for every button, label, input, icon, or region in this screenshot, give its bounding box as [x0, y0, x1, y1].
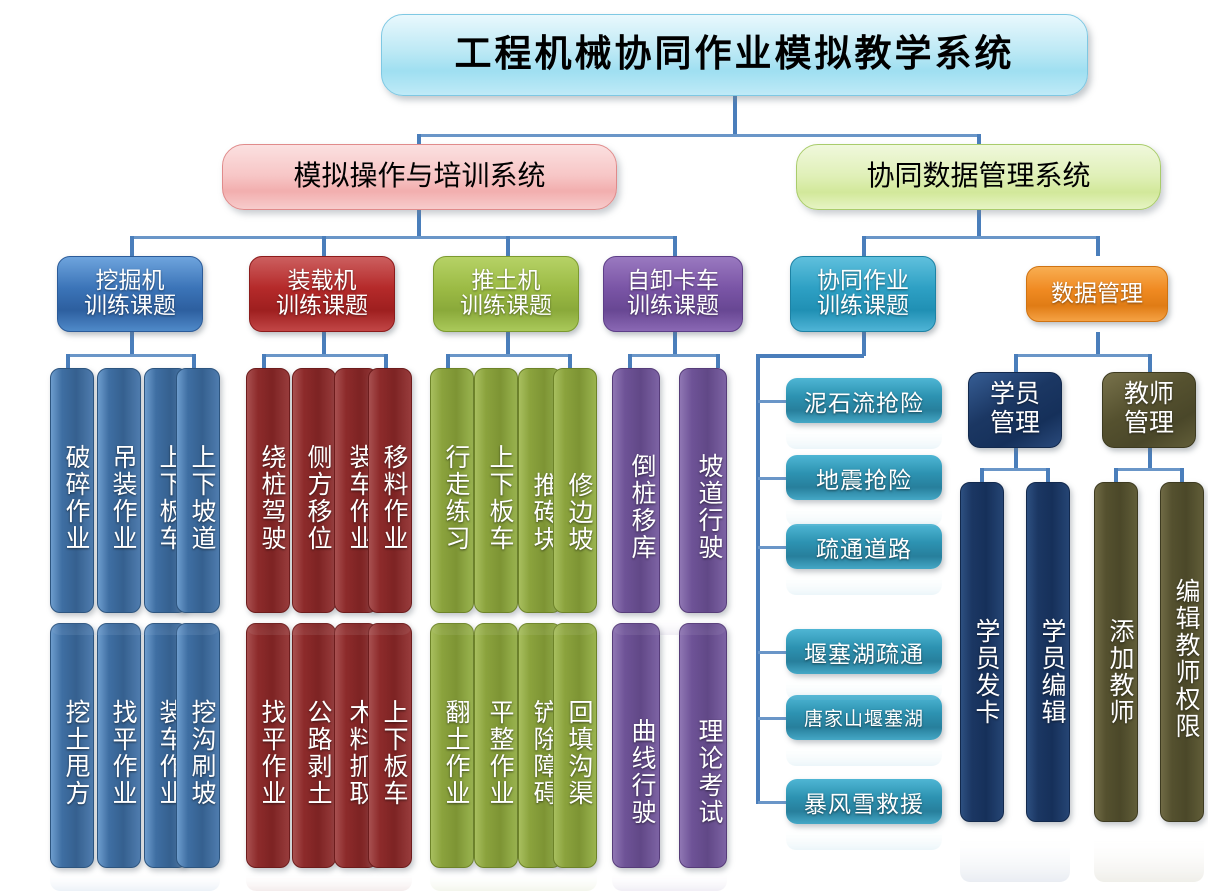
- connector-datamgmt-to-student: [1014, 354, 1018, 372]
- task-pill[interactable]: 挖沟刷坡: [176, 623, 220, 868]
- task-pill[interactable]: 上下板车: [474, 368, 518, 613]
- task-pill[interactable]: 修边坡: [553, 368, 597, 613]
- task-pill[interactable]: 上下板车: [368, 623, 412, 868]
- connector-sim-to-truck: [673, 236, 677, 256]
- connector-data-to-datamgmt: [1096, 236, 1100, 256]
- category-loader-line1: 装载机: [256, 269, 388, 294]
- connector-data-bus: [864, 236, 1098, 239]
- category-bulldozer-line2: 训练课题: [440, 294, 572, 319]
- connector-data-to-collab: [862, 236, 866, 256]
- connector-teacher-bus: [1116, 468, 1182, 471]
- category-data-management-label: 数据管理: [1033, 282, 1161, 307]
- category-excavator-line1: 挖掘机: [64, 269, 196, 294]
- collab-task-pill[interactable]: 疏通道路: [786, 524, 942, 569]
- connector-collab-branch-3: [758, 546, 786, 549]
- teacher-management-line1: 教师: [1124, 381, 1174, 410]
- connector-truck-left: [628, 354, 632, 368]
- category-loader-line2: 训练课题: [256, 294, 388, 319]
- connector-bulldozer-left: [446, 354, 450, 368]
- teacher-task-pill[interactable]: 添加教师: [1094, 482, 1138, 822]
- task-pill[interactable]: 侧方移位: [292, 368, 336, 613]
- connector-datamgmt-to-teacher: [1148, 354, 1152, 372]
- collab-task-pill[interactable]: 地震抢险: [786, 455, 942, 500]
- reflection-collab-2: [786, 500, 942, 526]
- category-data-management[interactable]: 数据管理: [1026, 266, 1168, 322]
- student-task-pill[interactable]: 学员编辑: [1026, 482, 1070, 822]
- connector-datamgmt-bus: [1016, 354, 1150, 357]
- category-dump-truck-line2: 训练课题: [610, 294, 736, 319]
- category-excavator-line2: 训练课题: [64, 294, 196, 319]
- reflection-collab-5: [786, 740, 942, 766]
- page-title-label: 工程机械协同作业模拟教学系统: [382, 35, 1087, 75]
- task-pill[interactable]: 曲线行驶: [612, 623, 660, 868]
- task-pill[interactable]: 绕桩驾驶: [246, 368, 290, 613]
- connector-student-bus: [982, 468, 1048, 471]
- reflection-loader-row2: [246, 868, 412, 891]
- teacher-management-node[interactable]: 教师 管理: [1102, 372, 1196, 448]
- task-pill[interactable]: 公路剥土: [292, 623, 336, 868]
- teacher-management-line2: 管理: [1124, 410, 1174, 439]
- task-pill[interactable]: 倒桩移库: [612, 368, 660, 613]
- connector-title-trunk: [733, 96, 737, 136]
- student-task-pill[interactable]: 学员发卡: [960, 482, 1004, 822]
- connector-truck-bus: [630, 354, 718, 357]
- connector-loader-right: [384, 354, 388, 368]
- collab-task-pill[interactable]: 暴风雪救援: [786, 779, 942, 824]
- connector-collab-branch-4: [758, 651, 786, 654]
- connector-collab-branch-2: [758, 477, 786, 480]
- reflection-bulldozer-row2: [430, 868, 597, 891]
- category-collaborative-work-line2: 训练课题: [797, 294, 929, 319]
- task-pill[interactable]: 回填沟渠: [553, 623, 597, 868]
- connector-sim-bus: [132, 236, 677, 239]
- connector-bulldozer-right: [568, 354, 572, 368]
- connector-collab-branch-5: [758, 717, 786, 720]
- connector-student-right: [1046, 468, 1050, 482]
- connector-loader-trunk: [322, 332, 326, 356]
- connector-student-trunk: [1014, 448, 1018, 470]
- system-collaborative-data-management[interactable]: 协同数据管理系统: [796, 144, 1161, 210]
- connector-collab-top: [756, 354, 864, 358]
- system-collaborative-data-management-label: 协同数据管理系统: [797, 162, 1160, 192]
- student-management-line2: 管理: [990, 410, 1040, 439]
- category-excavator[interactable]: 挖掘机 训练课题: [57, 256, 203, 332]
- org-chart-canvas: 工程机械协同作业模拟教学系统 模拟操作与培训系统 协同数据管理系统 挖掘机 训练…: [0, 0, 1208, 891]
- reflection-excavator-row2: [50, 868, 220, 891]
- task-pill[interactable]: 行走练习: [430, 368, 474, 613]
- connector-bulldozer-trunk: [506, 332, 510, 356]
- connector-excavator-trunk: [130, 332, 134, 356]
- connector-student-left: [980, 468, 984, 482]
- connector-loader-left: [262, 354, 266, 368]
- task-pill[interactable]: 吊装作业: [97, 368, 141, 613]
- connector-excavator-right: [192, 354, 196, 368]
- connector-bulldozer-bus: [448, 354, 570, 357]
- task-pill[interactable]: 平整作业: [474, 623, 518, 868]
- category-collaborative-work[interactable]: 协同作业 训练课题: [790, 256, 936, 332]
- task-pill[interactable]: 破碎作业: [50, 368, 94, 613]
- reflection-collab-1: [786, 423, 942, 449]
- category-loader[interactable]: 装载机 训练课题: [249, 256, 395, 332]
- connector-teacher-trunk: [1148, 448, 1152, 470]
- connector-collab-branch-6: [758, 801, 786, 804]
- connector-sim-trunk: [417, 210, 421, 238]
- connector-excavator-left: [66, 354, 70, 368]
- connector-sim-to-loader: [322, 236, 326, 256]
- category-dump-truck[interactable]: 自卸卡车 训练课题: [603, 256, 743, 332]
- task-pill[interactable]: 挖土甩方: [50, 623, 94, 868]
- task-pill[interactable]: 坡道行驶: [679, 368, 727, 613]
- connector-sim-to-excavator: [130, 236, 134, 256]
- task-pill[interactable]: 理论考试: [679, 623, 727, 868]
- collab-task-pill[interactable]: 唐家山堰塞湖: [786, 695, 942, 740]
- reflection-teacher-pills: [1094, 822, 1204, 882]
- task-pill[interactable]: 找平作业: [246, 623, 290, 868]
- category-collaborative-work-line1: 协同作业: [797, 269, 929, 294]
- task-pill[interactable]: 翻土作业: [430, 623, 474, 868]
- reflection-collab-6: [786, 824, 942, 850]
- connector-teacher-right: [1180, 468, 1184, 482]
- connector-collab-branch-1: [758, 400, 786, 403]
- connector-title-bus: [419, 134, 979, 137]
- reflection-truck-row2: [612, 868, 727, 891]
- category-bulldozer[interactable]: 推土机 训练课题: [433, 256, 579, 332]
- connector-collab-trunk: [862, 332, 866, 356]
- connector-truck-right: [716, 354, 720, 368]
- connector-truck-trunk: [673, 332, 677, 356]
- category-dump-truck-line1: 自卸卡车: [610, 269, 736, 294]
- category-bulldozer-line1: 推土机: [440, 269, 572, 294]
- task-pill[interactable]: 找平作业: [97, 623, 141, 868]
- student-management-line1: 学员: [990, 381, 1040, 410]
- system-simulation-training[interactable]: 模拟操作与培训系统: [222, 144, 617, 210]
- connector-teacher-left: [1114, 468, 1118, 482]
- teacher-task-pill[interactable]: 编辑教师权限: [1160, 482, 1204, 822]
- student-management-node[interactable]: 学员 管理: [968, 372, 1062, 448]
- collab-task-pill[interactable]: 泥石流抢险: [786, 378, 942, 423]
- collab-task-pill[interactable]: 堰塞湖疏通: [786, 629, 942, 674]
- connector-loader-bus: [264, 354, 386, 357]
- connector-data-trunk: [977, 210, 981, 238]
- task-pill[interactable]: 上下坡道: [176, 368, 220, 613]
- task-pill[interactable]: 移料作业: [368, 368, 412, 613]
- reflection-collab-3: [786, 569, 942, 595]
- page-title: 工程机械协同作业模拟教学系统: [381, 14, 1088, 96]
- connector-sim-to-bulldozer: [506, 236, 510, 256]
- connector-excavator-bus: [68, 354, 194, 357]
- system-simulation-training-label: 模拟操作与培训系统: [223, 162, 616, 192]
- connector-datamgmt-trunk: [1096, 332, 1100, 356]
- reflection-student-pills: [960, 822, 1070, 882]
- connector-collab-spine: [756, 354, 760, 804]
